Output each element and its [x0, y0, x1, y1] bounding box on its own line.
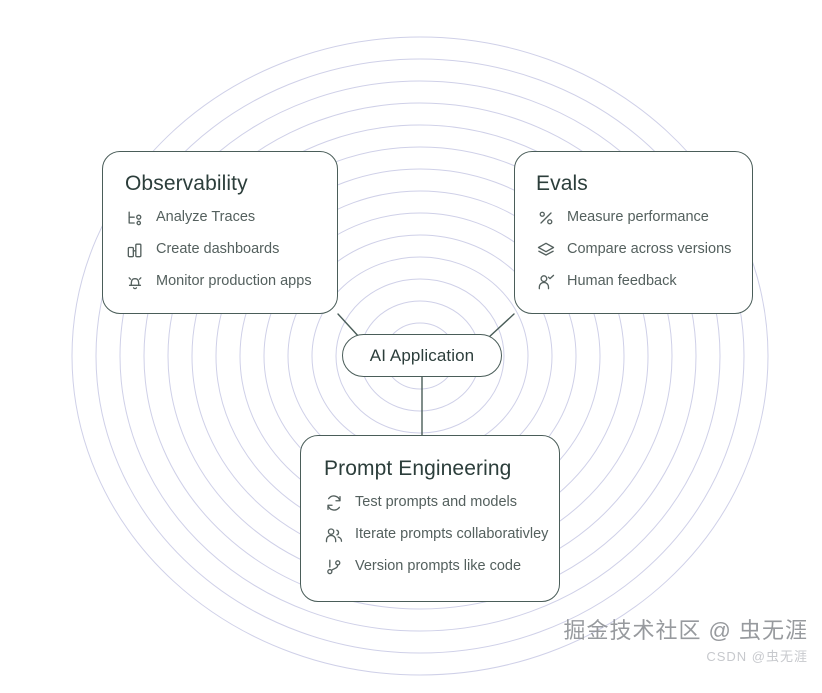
card-prompt-engineering[interactable]: Prompt Engineering Test prompts and mode…	[300, 435, 560, 602]
feature-item: Iterate prompts collaborativley	[324, 525, 559, 545]
feature-label: Test prompts and models	[355, 494, 517, 511]
card-observability-feature-list: Analyze Traces Create dashboards	[125, 208, 337, 292]
feature-item: Compare across versions	[536, 240, 752, 260]
center-node-ai-application[interactable]: AI Application	[342, 334, 502, 377]
card-evals[interactable]: Evals Measure performance	[514, 151, 753, 314]
feature-item: Monitor production apps	[125, 272, 337, 292]
feature-label: Iterate prompts collaborativley	[355, 526, 548, 543]
feature-label: Measure performance	[567, 209, 709, 226]
feature-label: Version prompts like code	[355, 558, 521, 575]
trace-tree-icon	[125, 208, 145, 228]
bar-chart-icon	[125, 240, 145, 260]
feature-item: Human feedback	[536, 272, 752, 292]
feature-label: Create dashboards	[156, 241, 279, 258]
card-evals-title: Evals	[536, 172, 752, 196]
card-evals-feature-list: Measure performance Compare across versi…	[536, 208, 752, 292]
feature-label: Monitor production apps	[156, 273, 312, 290]
diagram-canvas: Observability Analyze Traces	[0, 0, 822, 693]
center-node-label: AI Application	[370, 346, 474, 366]
feature-item: Measure performance	[536, 208, 752, 228]
user-check-icon	[536, 272, 556, 292]
feature-item: Analyze Traces	[125, 208, 337, 228]
feature-label: Human feedback	[567, 273, 677, 290]
layers-icon	[536, 240, 556, 260]
card-observability-title: Observability	[125, 172, 337, 196]
percent-icon	[536, 208, 556, 228]
users-group-icon	[324, 525, 344, 545]
git-branch-icon	[324, 557, 344, 577]
card-prompt-engineering-feature-list: Test prompts and models Iterate prompts …	[324, 493, 559, 577]
bell-alert-icon	[125, 272, 145, 292]
connector-evals-to-center	[488, 314, 514, 338]
feature-item: Test prompts and models	[324, 493, 559, 513]
feature-label: Compare across versions	[567, 241, 731, 258]
feature-label: Analyze Traces	[156, 209, 255, 226]
refresh-cycle-icon	[324, 493, 344, 513]
card-prompt-engineering-title: Prompt Engineering	[324, 457, 559, 481]
feature-item: Create dashboards	[125, 240, 337, 260]
card-observability[interactable]: Observability Analyze Traces	[102, 151, 338, 314]
feature-item: Version prompts like code	[324, 557, 559, 577]
